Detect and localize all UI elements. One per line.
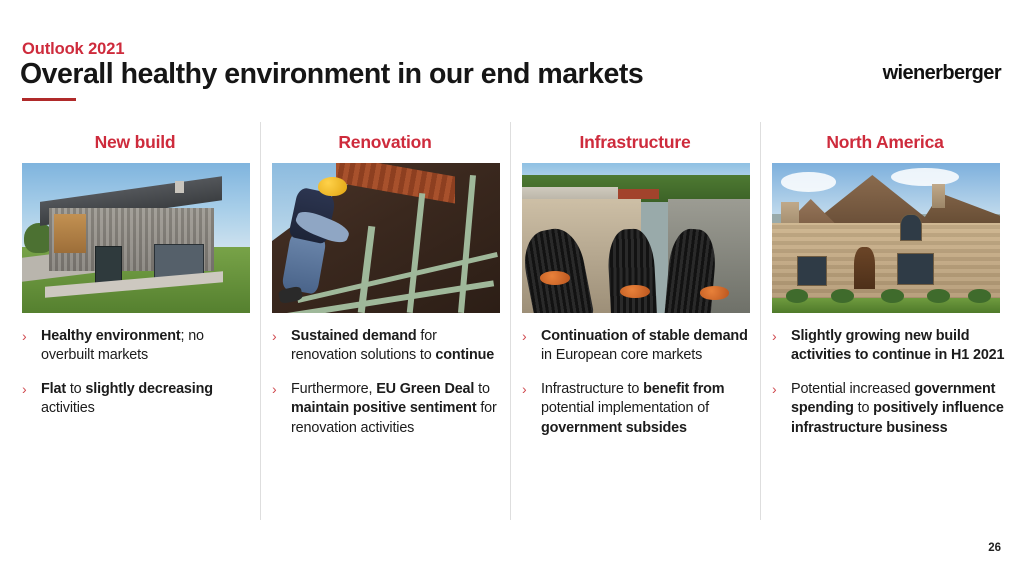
chevron-right-icon: › bbox=[22, 327, 27, 346]
bullet-item: ›Potential increased government spending… bbox=[772, 380, 1006, 438]
bullet-text: Furthermore, EU Green Deal to maintain p… bbox=[291, 381, 497, 436]
wienerberger-logo: wienerberger bbox=[883, 62, 1001, 85]
chevron-right-icon: › bbox=[772, 380, 777, 399]
bullet-item: ›Sustained demand for renovation solutio… bbox=[272, 327, 506, 366]
bullet-item: ›Healthy environment; no overbuilt marke… bbox=[22, 327, 256, 366]
renovation-photo bbox=[272, 163, 500, 313]
column-heading: Renovation bbox=[260, 122, 510, 153]
slide: Outlook 2021 Overall healthy environment… bbox=[0, 0, 1024, 576]
column-heading: North America bbox=[760, 122, 1010, 153]
bullet-text: Continuation of stable demand in Europea… bbox=[541, 328, 748, 363]
column-renovation: Renovation ›Sustained demand for renovat… bbox=[260, 122, 510, 520]
bullet-text: Flat to slightly decreasing activities bbox=[41, 381, 213, 416]
bullet-item: ›Flat to slightly decreasing activities bbox=[22, 380, 256, 419]
bullet-item: ›Infrastructure to benefit from potentia… bbox=[522, 380, 756, 438]
bullet-item: ›Continuation of stable demand in Europe… bbox=[522, 327, 756, 366]
page-title: Overall healthy environment in our end m… bbox=[20, 58, 643, 91]
bullet-list: ›Healthy environment; no overbuilt marke… bbox=[22, 327, 256, 433]
chevron-right-icon: › bbox=[522, 380, 527, 399]
infrastructure-photo bbox=[522, 163, 750, 313]
columns-container: New build ›Healthy environment; no overb… bbox=[0, 122, 1024, 522]
new-build-photo bbox=[22, 163, 250, 313]
bullet-item: ›Furthermore, EU Green Deal to maintain … bbox=[272, 380, 506, 438]
chevron-right-icon: › bbox=[272, 327, 277, 346]
bullet-text: Sustained demand for renovation solution… bbox=[291, 328, 494, 363]
bullet-list: ›Sustained demand for renovation solutio… bbox=[272, 327, 506, 452]
bullet-text: Slightly growing new build activities to… bbox=[791, 328, 1004, 363]
chevron-right-icon: › bbox=[272, 380, 277, 399]
title-underline-rule bbox=[22, 98, 76, 101]
column-heading: New build bbox=[10, 122, 260, 153]
page-number: 26 bbox=[988, 542, 1001, 554]
chevron-right-icon: › bbox=[522, 327, 527, 346]
column-new-build: New build ›Healthy environment; no overb… bbox=[10, 122, 260, 520]
north-america-photo bbox=[772, 163, 1000, 313]
column-heading: Infrastructure bbox=[510, 122, 760, 153]
column-infrastructure: Infrastructure ›Continuation of stable d… bbox=[510, 122, 760, 520]
chevron-right-icon: › bbox=[772, 327, 777, 346]
bullet-text: Healthy environment; no overbuilt market… bbox=[41, 328, 204, 363]
bullet-list: ›Continuation of stable demand in Europe… bbox=[522, 327, 756, 452]
column-north-america: North America ›Slightly growing new buil… bbox=[760, 122, 1010, 520]
chevron-right-icon: › bbox=[22, 380, 27, 399]
bullet-item: ›Slightly growing new build activities t… bbox=[772, 327, 1006, 366]
bullet-text: Potential increased government spending … bbox=[791, 381, 1004, 436]
eyebrow-label: Outlook 2021 bbox=[22, 40, 124, 59]
bullet-list: ›Slightly growing new build activities t… bbox=[772, 327, 1006, 452]
bullet-text: Infrastructure to benefit from potential… bbox=[541, 381, 724, 436]
